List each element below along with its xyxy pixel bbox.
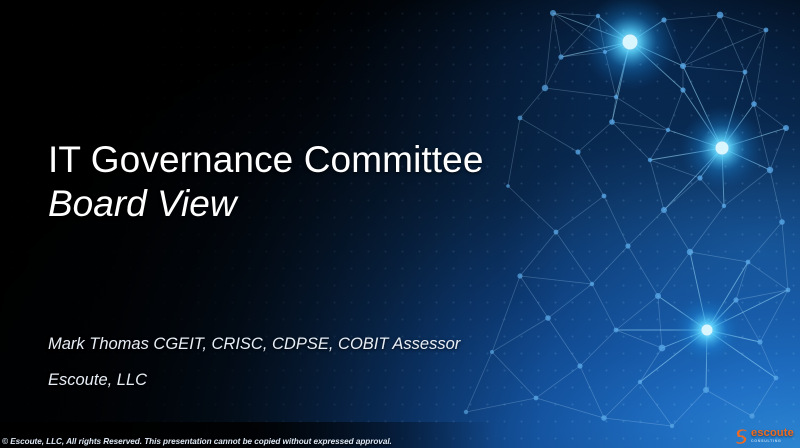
logo-wordmark: escoute <box>751 428 794 439</box>
author-organization: Escoute, LLC <box>48 372 460 389</box>
escoute-e-mark <box>735 428 748 444</box>
author-name: Mark Thomas CGEIT, CRISC, CDPSE, COBIT A… <box>48 336 460 353</box>
escoute-logo: escoute CONSULTING <box>735 428 794 444</box>
author-block: Mark Thomas CGEIT, CRISC, CDPSE, COBIT A… <box>48 336 460 388</box>
title-block: IT Governance Committee Board View <box>48 140 484 225</box>
page-title: IT Governance Committee <box>48 140 484 179</box>
logo-tagline: CONSULTING <box>751 440 794 444</box>
page-subtitle: Board View <box>48 183 484 225</box>
copyright-notice: © Escoute, LLC, All rights Reserved. Thi… <box>2 437 392 446</box>
presentation-slide: IT Governance Committee Board View Mark … <box>0 0 800 448</box>
